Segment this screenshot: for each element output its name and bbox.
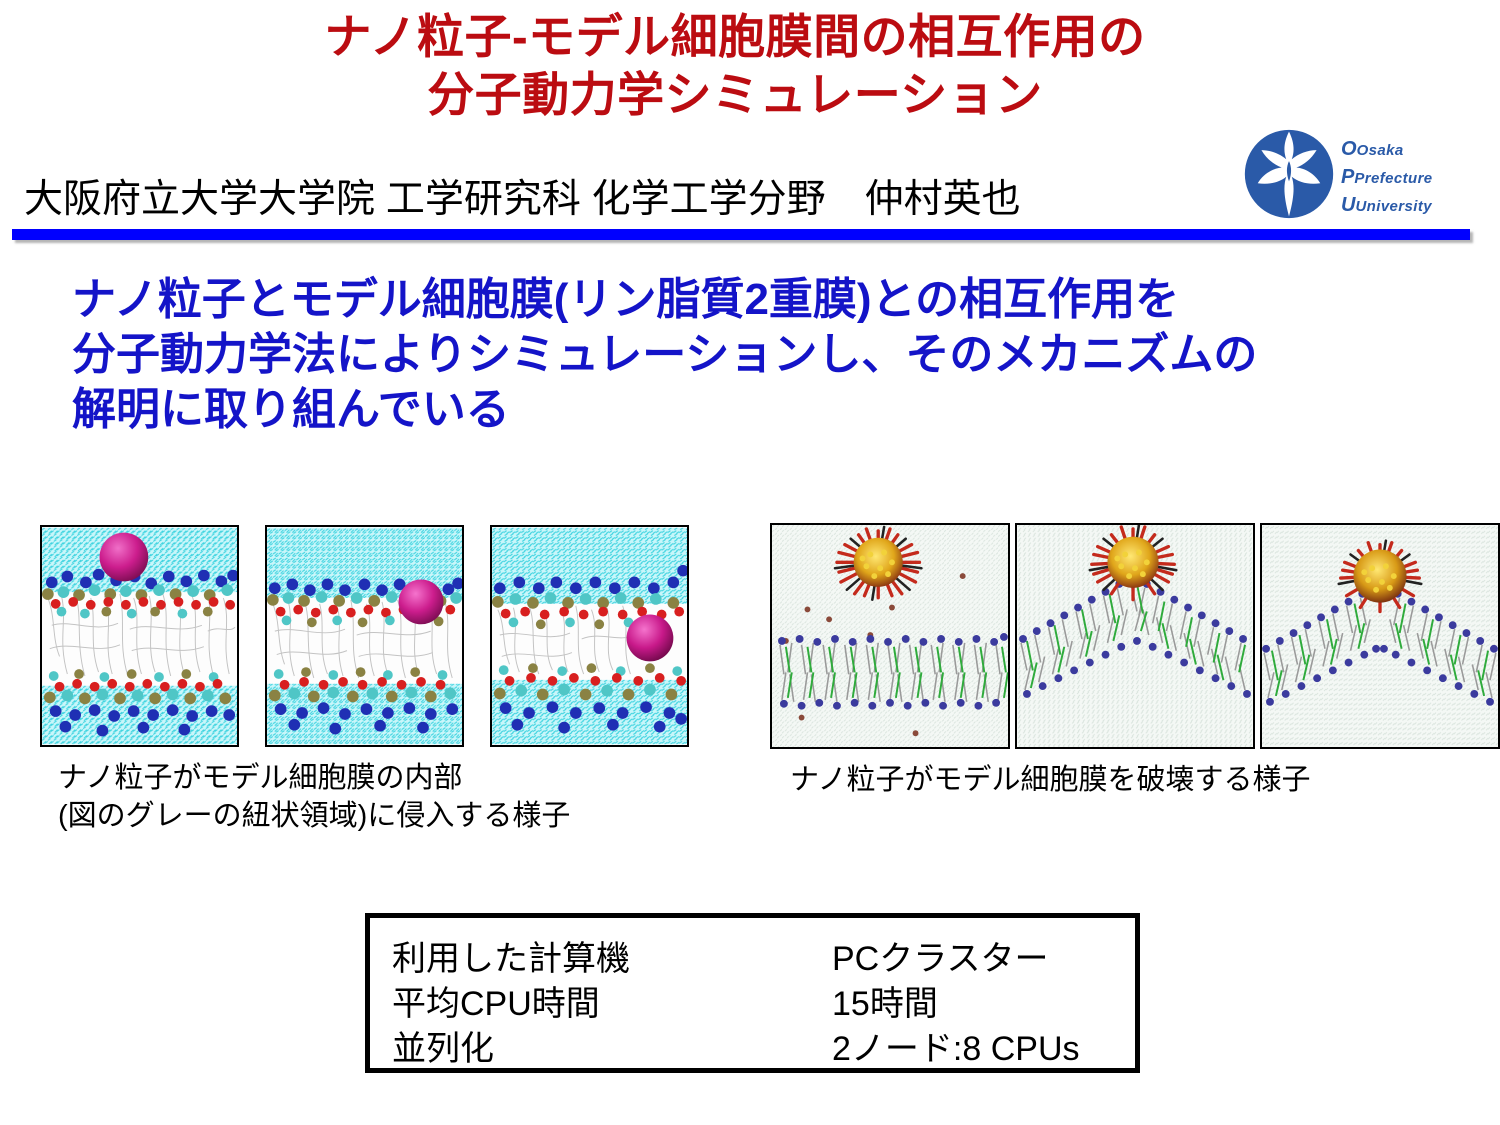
logo-line-prefecture: PPrefecture [1341, 164, 1433, 192]
computation-spec-table: 利用した計算機 PCクラスター 平均CPU時間 15時間 並列化 2ノード:8 … [365, 913, 1140, 1073]
simulation-panel-penetration-3 [490, 525, 689, 747]
figure-caption-rupture: ナノ粒子がモデル細胞膜を破壊する様子 [790, 761, 1500, 799]
header-divider [12, 229, 1470, 240]
spec-value-machine: PCクラスター [832, 931, 1049, 980]
nanoparticle-icon [399, 579, 444, 624]
spec-label-machine: 利用した計算機 [392, 931, 832, 980]
simulation-panel-penetration-2 [265, 525, 464, 747]
simulation-panel-rupture-3 [1260, 523, 1500, 749]
osaka-prefecture-university-emblem-icon [1243, 128, 1335, 220]
logo-line-osaka: OOsaka [1341, 136, 1433, 164]
caption-penetration-line-1: ナノ粒子がモデル細胞膜の内部 [58, 759, 689, 797]
figure-row-penetration [40, 525, 689, 747]
logo-line-university: UUniversity [1341, 192, 1433, 220]
summary-line-1: ナノ粒子とモデル細胞膜(リン脂質2重膜)との相互作用を [72, 272, 1472, 327]
author-affiliation: 大阪府立大学大学院 工学研究科 化学工学分野 仲村英也 [24, 168, 1021, 224]
caption-penetration-line-2: (図のグレーの紐状領域)に侵入する様子 [58, 797, 689, 835]
figure-group-penetration: ナノ粒子がモデル細胞膜の内部 (図のグレーの紐状領域)に侵入する様子 [40, 525, 689, 835]
title-line-2: 分子動力学シミュレーション [0, 66, 1470, 124]
simulation-panel-rupture-1 [770, 523, 1010, 749]
nanoparticle-icon [100, 533, 149, 582]
table-row: 並列化 2ノード:8 CPUs [392, 1021, 1135, 1066]
spec-value-cpu-time: 15時間 [832, 976, 938, 1025]
title-line-1: ナノ粒子-モデル細胞膜間の相互作用の [0, 8, 1470, 66]
table-row: 平均CPU時間 15時間 [392, 976, 1135, 1021]
simulation-panel-rupture-2 [1015, 523, 1255, 749]
page-title: ナノ粒子-モデル細胞膜間の相互作用の 分子動力学シミュレーション [0, 8, 1470, 124]
simulation-panel-penetration-1 [40, 525, 239, 747]
university-logo: OOsaka PPrefecture UUniversity [1243, 128, 1475, 226]
table-row: 利用した計算機 PCクラスター [392, 931, 1135, 976]
spec-label-parallelization: 並列化 [392, 1021, 832, 1070]
summary-line-2: 分子動力学法によりシミュレーションし、そのメカニズムの [72, 327, 1472, 382]
nanoparticle-icon [627, 615, 674, 662]
figure-group-rupture: ナノ粒子がモデル細胞膜を破壊する様子 [770, 523, 1500, 799]
figure-row-rupture [770, 523, 1500, 749]
summary-line-3: 解明に取り組んでいる [72, 382, 1472, 437]
figure-caption-penetration: ナノ粒子がモデル細胞膜の内部 (図のグレーの紐状領域)に侵入する様子 [58, 759, 689, 835]
spec-label-cpu-time: 平均CPU時間 [392, 976, 832, 1025]
spec-value-parallelization: 2ノード:8 CPUs [832, 1021, 1080, 1070]
summary-paragraph: ナノ粒子とモデル細胞膜(リン脂質2重膜)との相互作用を 分子動力学法によりシミュ… [72, 272, 1472, 437]
